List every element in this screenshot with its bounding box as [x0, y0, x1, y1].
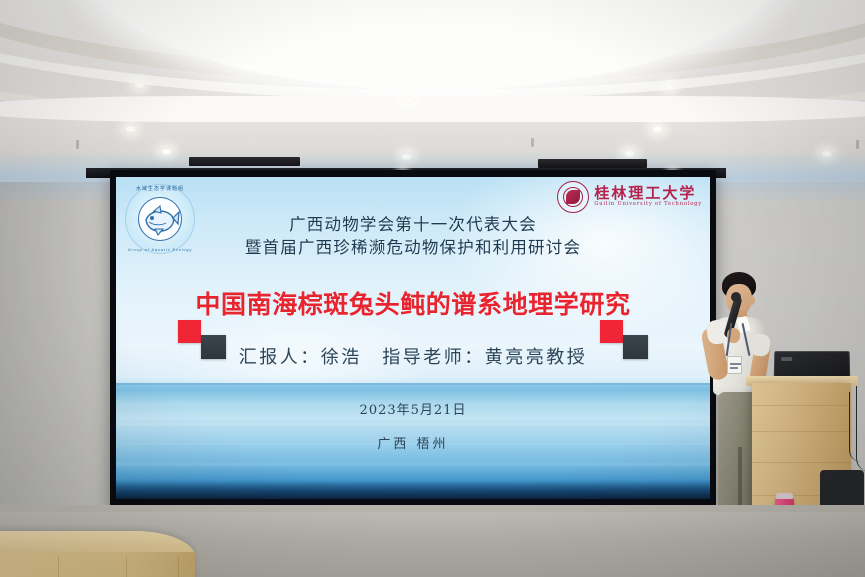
downlight-icon	[663, 83, 676, 91]
desk-panel-seam	[58, 556, 59, 577]
led-display-screen[interactable]: 水域生态学课题组 Group of Aquatic Ecology	[110, 170, 716, 508]
university-name-cn: 桂林理工大学	[594, 186, 702, 202]
soffit-edge-highlight	[0, 96, 865, 122]
wood-grain-line	[752, 431, 851, 432]
name-badge	[727, 356, 742, 374]
decoration-square-red-left	[178, 320, 201, 343]
thermos-cap	[776, 493, 793, 499]
university-name-block: 桂林理工大学 Guilin University of Technology	[594, 186, 702, 207]
logo-chinese-text: 水域生态学课题组	[125, 185, 195, 192]
ceiling-sensor-icon	[531, 138, 534, 147]
presentation-place: 广西 梧州	[116, 433, 710, 452]
presenter-ear	[749, 296, 755, 305]
downlight-icon	[651, 125, 664, 133]
university-logo: 桂林理工大学 Guilin University of Technology	[557, 181, 702, 213]
ceiling-sensor-icon	[76, 140, 79, 149]
wood-grain-line	[752, 462, 851, 463]
screen-surface: 水域生态学课题组 Group of Aquatic Ecology	[116, 177, 710, 499]
badge-text-line	[730, 363, 741, 365]
subtitle-line-2: 暨首届广西珍稀濒危动物保护和利用研讨会	[116, 236, 710, 259]
ceiling-air-vent	[538, 159, 647, 168]
downlight-icon	[124, 125, 137, 133]
presentation-title: 中国南海棕斑兔头鲀的谱系地理学研究	[116, 285, 710, 321]
badge-text-line	[730, 367, 738, 369]
microphone-head	[731, 292, 741, 302]
conference-subtitle: 广西动物学会第十一次代表大会 暨首届广西珍稀濒危动物保护和利用研讨会	[116, 213, 710, 260]
presentation-date: 2023年5月21日	[116, 399, 710, 418]
downlight-icon	[133, 81, 146, 89]
wood-grain-line	[752, 405, 851, 406]
signal-cable	[849, 392, 861, 462]
presenter-right-sleeve	[749, 333, 771, 357]
presenter-advisor-line: 汇报人：徐浩 指导老师：黄亮亮教授	[116, 343, 710, 369]
trouser-leg-separation	[738, 447, 742, 513]
university-seal-icon	[557, 181, 589, 213]
ceiling-sensor-icon	[856, 140, 859, 149]
desk-panel-seam	[126, 556, 127, 577]
slide-content: 水域生态学课题组 Group of Aquatic Ecology	[116, 177, 710, 499]
downlight-icon	[402, 96, 415, 104]
laptop-brand-logo	[781, 357, 792, 361]
wall-shadow	[0, 182, 115, 542]
conference-room-photo: 水域生态学课题组 Group of Aquatic Ecology	[0, 0, 865, 577]
front-desk-left-panel	[0, 552, 195, 577]
subtitle-line-1: 广西动物学会第十一次代表大会	[116, 213, 710, 236]
decoration-square-red-right	[600, 320, 623, 343]
ceiling-air-vent	[189, 157, 300, 166]
university-name-en: Guilin University of Technology	[594, 202, 702, 207]
desk-panel-seam	[178, 556, 179, 577]
